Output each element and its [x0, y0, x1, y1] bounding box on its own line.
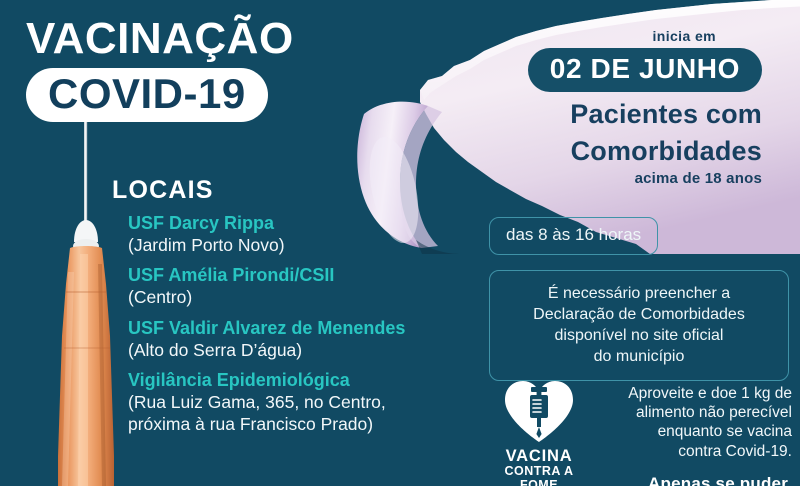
date-kicker: inicia em: [432, 28, 716, 44]
donation-section: VACINA CONTRA A FOME Aproveite e doe 1 k…: [487, 378, 792, 486]
audience-line-2: Comorbidades: [432, 136, 762, 166]
poster-headline: VACINAÇÃO COVID-19: [26, 16, 356, 122]
audience-line-1: Pacientes com: [432, 99, 762, 129]
vaccination-poster: VACINAÇÃO COVID-19 LOCAIS USF Darcy Ripp…: [0, 0, 800, 486]
donation-text-block: Aproveite e doe 1 kg dealimento não pere…: [591, 378, 792, 486]
declaration-box: É necessário preencher aDeclaração de Co…: [489, 270, 789, 381]
donation-message: Aproveite e doe 1 kg dealimento não pere…: [597, 384, 792, 461]
locations-title: LOCAIS: [112, 176, 432, 205]
logo-line-2: CONTRA A FOME: [487, 465, 591, 486]
location-address: (Rua Luiz Gama, 365, no Centro,próxima à…: [128, 392, 432, 436]
list-item: Vigilância Epidemiológica (Rua Luiz Gama…: [112, 370, 432, 435]
date-section: inicia em 02 DE JUNHO Pacientes com Como…: [432, 28, 762, 187]
donation-cta: Apenas se puder.: [597, 474, 792, 486]
age-note: acima de 18 anos: [432, 170, 762, 187]
logo-line-1: VACINA: [487, 448, 591, 465]
location-name: USF Amélia Pirondi/CSII: [128, 265, 432, 287]
list-item: USF Amélia Pirondi/CSII (Centro): [112, 265, 432, 308]
vacina-contra-a-fome-logo: VACINA CONTRA A FOME: [487, 378, 591, 486]
list-item: USF Darcy Rippa (Jardim Porto Novo): [112, 213, 432, 256]
location-name: USF Darcy Rippa: [128, 213, 432, 235]
location-address: (Centro): [128, 287, 432, 309]
location-address: (Alto do Serra D’água): [128, 340, 432, 362]
list-item: USF Valdir Alvarez de Menendes (Alto do …: [112, 318, 432, 361]
locations-section: LOCAIS USF Darcy Rippa (Jardim Porto Nov…: [112, 176, 432, 445]
hours-box: das 8 às 16 horas: [489, 217, 658, 255]
location-name: USF Valdir Alvarez de Menendes: [128, 318, 432, 340]
location-address: (Jardim Porto Novo): [128, 235, 432, 257]
location-name: Vigilância Epidemiológica: [128, 370, 432, 392]
headline-covid-badge: COVID-19: [26, 68, 268, 122]
date-badge: 02 DE JUNHO: [528, 48, 762, 92]
heart-icon: [501, 378, 577, 446]
headline-vacinacao: VACINAÇÃO: [26, 16, 356, 62]
